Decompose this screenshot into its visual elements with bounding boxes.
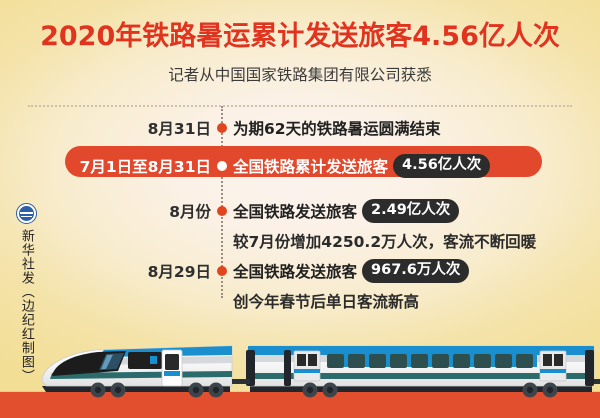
timeline-dot-icon	[217, 123, 227, 133]
timeline: 8月31日 为期62天的铁路暑运圆满结束 7月1日至8月31日 全国铁路累计发送…	[0, 106, 600, 306]
timeline-dot-cell	[211, 123, 233, 133]
timeline-row-date: 8月31日	[0, 117, 211, 139]
timeline-dot-icon	[217, 161, 227, 171]
high-speed-train-illustration	[0, 324, 600, 404]
timeline-row-description: 为期62天的铁路暑运圆满结束	[233, 117, 441, 139]
stat-badge: 967.6万人次	[362, 259, 469, 282]
stat-badge: 4.56亿人次	[393, 154, 490, 177]
timeline-row-description: 全国铁路累计发送旅客 4.56亿人次	[233, 154, 490, 177]
timeline-row: 8月29日 全国铁路发送旅客 967.6万人次	[0, 256, 600, 286]
infographic-poster: 2020年铁路暑运累计发送旅客4.56亿人次 记者从中国国家铁路集团有限公司获悉…	[0, 0, 600, 418]
timeline-row: 8月31日 为期62天的铁路暑运圆满结束	[0, 113, 600, 143]
timeline-row-highlighted: 7月1日至8月31日 全国铁路累计发送旅客 4.56亿人次	[0, 151, 600, 181]
timeline-row: 8月份 全国铁路发送旅客 2.49亿人次	[0, 196, 600, 226]
timeline-dot-icon	[217, 206, 227, 216]
timeline-dot-cell	[211, 206, 233, 216]
page-title: 2020年铁路暑运累计发送旅客4.56亿人次	[0, 22, 600, 52]
page-subtitle: 记者从中国国家铁路集团有限公司获悉	[0, 63, 600, 85]
train-passenger-car	[240, 346, 600, 398]
timeline-row-text: 为期62天的铁路暑运圆满结束	[233, 117, 441, 139]
timeline-row-text: 全国铁路发送旅客	[233, 200, 357, 222]
timeline-row-subline: 较7月份增加4250.2万人次，客流不断回暖	[233, 230, 536, 252]
poster-header: 2020年铁路暑运累计发送旅客4.56亿人次 记者从中国国家铁路集团有限公司获悉	[0, 0, 600, 85]
timeline-row-description: 全国铁路发送旅客 967.6万人次	[233, 259, 469, 282]
timeline-dot-icon	[217, 266, 227, 276]
timeline-row-description: 全国铁路发送旅客 2.49亿人次	[233, 199, 459, 222]
timeline-dot-cell	[211, 266, 233, 276]
timeline-row-text: 全国铁路累计发送旅客	[233, 155, 388, 177]
logo-bar-lower	[21, 216, 32, 217]
timeline-dot-cell	[211, 161, 233, 171]
xinhua-logo-icon	[16, 203, 37, 224]
timeline-row-date: 7月1日至8月31日	[0, 155, 211, 177]
stat-badge: 2.49亿人次	[362, 199, 459, 222]
timeline-row-subline: 创今年春节后单日客流新高	[233, 290, 419, 312]
timeline-row-text: 全国铁路发送旅客	[233, 260, 357, 282]
train-locomotive	[42, 346, 244, 398]
logo-bar-upper	[20, 212, 33, 214]
